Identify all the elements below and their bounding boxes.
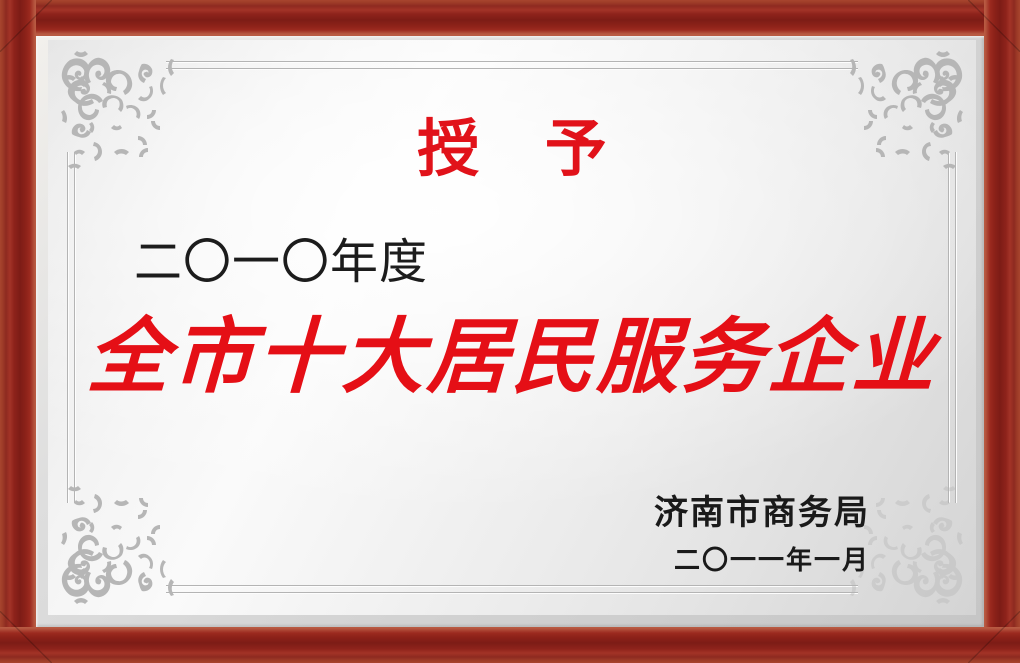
frame-right-edge	[984, 0, 1020, 663]
award-year-line: 二〇一〇年度	[134, 238, 428, 286]
award-plaque: 授 予 二〇一〇年度 全市十大居民服务企业 济南市商务局 二〇一一年一月	[0, 0, 1020, 663]
issue-date: 二〇一一年一月	[674, 548, 870, 574]
issuing-authority: 济南市商务局	[654, 496, 870, 530]
frame-bottom-edge	[0, 627, 1020, 663]
certificate-text-block: 授 予 二〇一〇年度 全市十大居民服务企业 济南市商务局 二〇一一年一月	[48, 40, 976, 615]
certificate-panel: 授 予 二〇一〇年度 全市十大居民服务企业 济南市商务局 二〇一一年一月	[48, 40, 976, 615]
frame-left-edge	[0, 0, 36, 663]
award-verb-heading: 授 予	[48, 118, 976, 180]
award-title: 全市十大居民服务企业	[48, 314, 976, 400]
